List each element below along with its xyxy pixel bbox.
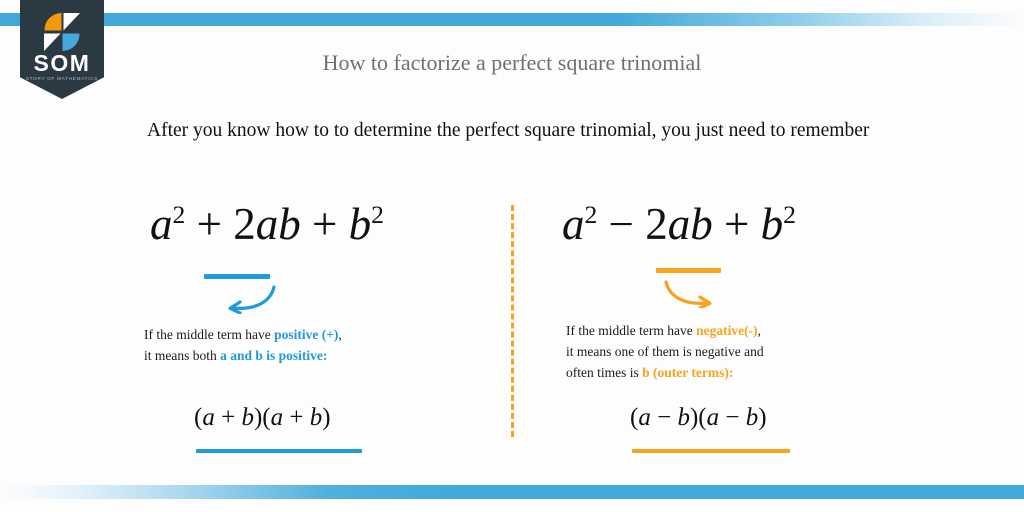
negative-case-column: a2 − 2ab + b2 If the middle term have ne…: [540, 198, 920, 250]
operator-plus-second: +: [312, 199, 337, 249]
negative-explanation-line-3: often times is b (outer terms):: [566, 362, 866, 383]
negative-explanation: If the middle term have negative(-), it …: [566, 320, 866, 383]
operator-minus-middle: −: [609, 199, 634, 249]
positive-explanation: If the middle term have positive (+), it…: [144, 324, 434, 366]
curved-arrow-right-icon: [660, 278, 746, 313]
negative-result-block: (a − b)(a − b): [630, 404, 790, 453]
negative-line1-highlight: negative(-): [696, 323, 757, 338]
term-b-squared: b2: [761, 199, 796, 249]
term-a-squared: a2: [150, 199, 185, 249]
intro-paragraph: After you know how to to determine the p…: [147, 114, 937, 148]
positive-result-underline: [196, 449, 362, 453]
negative-line3-highlight: b (outer terms):: [642, 365, 733, 380]
positive-line1-highlight: positive (+): [274, 327, 338, 342]
operator-plus-middle: +: [197, 199, 222, 249]
term-2ab: 2ab: [233, 199, 301, 249]
positive-explanation-line-1: If the middle term have positive (+),: [144, 324, 430, 345]
curved-arrow-left-icon: [194, 284, 280, 319]
positive-factored-result: (a + b)(a + b): [194, 404, 362, 432]
negative-trinomial-formula: a2 − 2ab + b2: [540, 198, 920, 250]
column-divider: [511, 205, 514, 437]
positive-line1-post: ,: [338, 327, 341, 342]
som-lightning-mark-icon: [41, 12, 83, 52]
positive-line2-highlight: a and b is positive:: [220, 348, 327, 363]
brand-tagline: STORY OF MATHEMATICS: [20, 76, 104, 81]
negative-line1-post: ,: [758, 323, 761, 338]
positive-result-block: (a + b)(a + b): [194, 404, 362, 453]
page-title: How to factorize a perfect square trinom…: [0, 50, 1024, 76]
term-2ab: 2ab: [645, 199, 713, 249]
negative-explanation-line-2: it means one of them is negative and: [566, 341, 866, 362]
negative-line1-pre: If the middle term have: [566, 323, 696, 338]
negative-operator-underline: [656, 268, 721, 273]
positive-case-column: a2 + 2ab + b2 If the middle term have po…: [132, 198, 502, 250]
negative-factored-result: (a − b)(a − b): [630, 404, 790, 432]
negative-line3-pre: often times is: [566, 365, 642, 380]
operator-plus-second: +: [724, 199, 749, 249]
term-b-squared: b2: [349, 199, 384, 249]
positive-operator-underline: [204, 274, 270, 279]
positive-trinomial-formula: a2 + 2ab + b2: [132, 198, 502, 250]
positive-explanation-line-2: it means both a and b is positive:: [144, 345, 434, 366]
bottom-accent-bar: [0, 485, 1024, 499]
term-a-squared: a2: [562, 199, 597, 249]
negative-explanation-line-1: If the middle term have negative(-),: [566, 320, 866, 341]
top-accent-bar: [0, 13, 1024, 26]
positive-line2-pre: it means both: [144, 348, 220, 363]
positive-line1-pre: If the middle term have: [144, 327, 274, 342]
negative-result-underline: [632, 449, 790, 453]
